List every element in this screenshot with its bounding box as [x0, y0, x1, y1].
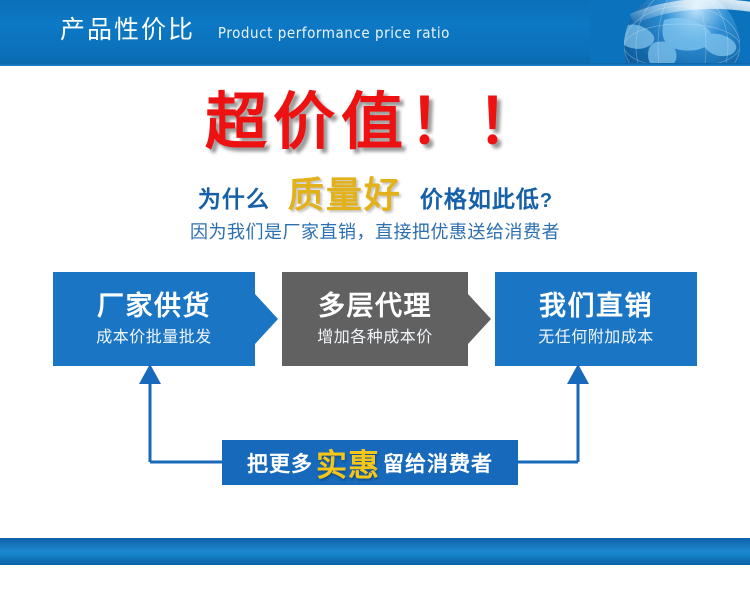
flow-box-title: 厂家供货: [97, 293, 211, 321]
header-title: 产品性价比 Product performance price ratio: [60, 17, 463, 42]
header-title-en: Product performance price ratio: [218, 26, 450, 41]
sub-headline-secondary: 因为我们是厂家直销，直接把优惠送给消费者: [0, 224, 750, 242]
sub-headline-row: 为什么 质量好 价格如此低 ?: [0, 178, 750, 214]
flow-diagram: 厂家供货 成本价批量批发 多层代理 增加各种成本价 我们直销 无任何附加成本: [53, 272, 697, 366]
sub-headline-question-mark: ?: [540, 190, 552, 213]
header-banner: 产品性价比 Product performance price ratio: [0, 0, 750, 66]
flow-box-subtitle: 增加各种成本价: [317, 328, 433, 346]
bottom-decorative-bar: [0, 538, 750, 565]
arrow-up-icon-right: [518, 364, 589, 462]
flow-box-middleman: 多层代理 增加各种成本价: [282, 272, 468, 366]
flow-box-subtitle: 成本价批量批发: [96, 328, 212, 346]
arrow-up-icon-left: [139, 364, 222, 462]
flow-box-direct: 我们直销 无任何附加成本: [495, 272, 697, 366]
sub-headline-part2: 价格如此低: [420, 189, 540, 212]
bottom-banner-part2: 留给消费者: [383, 448, 493, 478]
flow-box-subtitle: 无任何附加成本: [538, 328, 654, 346]
flow-box-title: 多层代理: [318, 293, 432, 321]
chevron-right-icon: [255, 272, 278, 366]
header-title-cn: 产品性价比: [60, 17, 195, 42]
header-underline: [0, 63, 750, 66]
page-headline: 超价值！！: [0, 86, 750, 158]
sub-headline-highlight: 质量好: [288, 178, 402, 214]
flow-box-title: 我们直销: [539, 293, 653, 321]
sub-headline-part1: 为什么: [198, 189, 270, 212]
flow-box-source: 厂家供货 成本价批量批发: [53, 272, 255, 366]
bottom-banner-part1: 把更多: [247, 448, 313, 478]
promo-page: 产品性价比 Product performance price ratio 超价…: [0, 0, 750, 590]
chevron-right-icon: [468, 272, 491, 366]
bottom-banner-highlight: 实惠: [316, 440, 380, 485]
bottom-banner: 把更多 实惠 留给消费者: [222, 440, 518, 485]
globe-world-map-icon: [590, 0, 750, 66]
